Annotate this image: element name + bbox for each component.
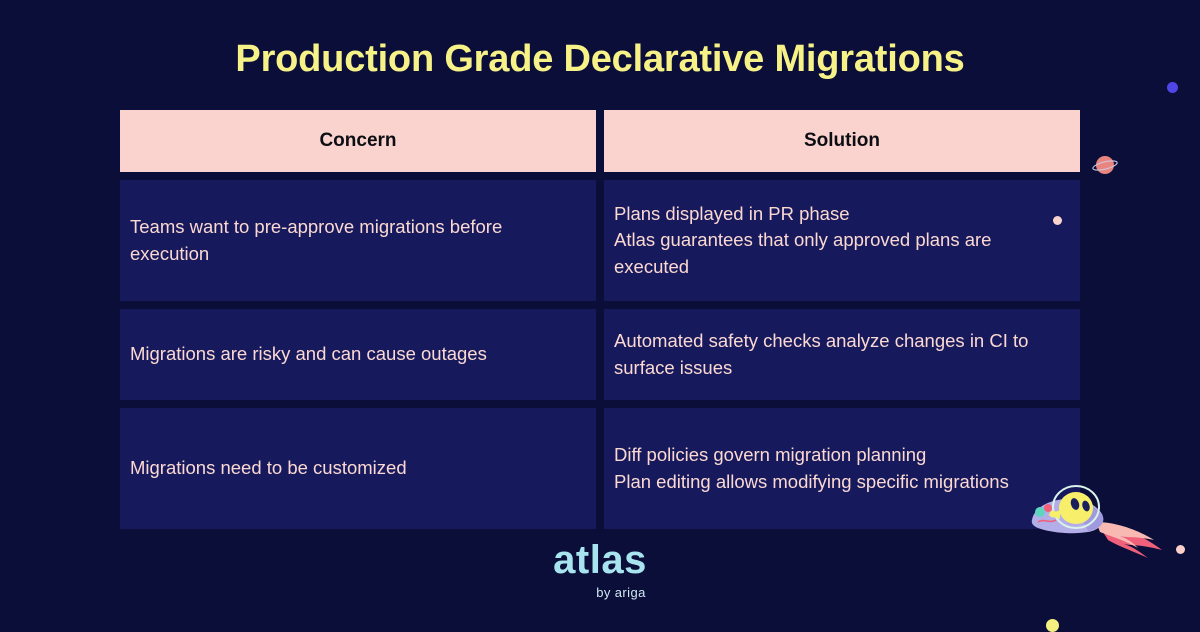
concern-cell: Migrations are risky and can cause outag… bbox=[120, 309, 596, 400]
concern-line: Teams want to pre-approve migrations bef… bbox=[130, 214, 586, 267]
solution-cell: Diff policies govern migration planning … bbox=[604, 408, 1080, 529]
concern-cell: Teams want to pre-approve migrations bef… bbox=[120, 180, 596, 301]
concern-cell: Migrations need to be customized bbox=[120, 408, 596, 529]
table-row: Migrations need to be customized Diff po… bbox=[120, 408, 1080, 529]
solution-cell: Plans displayed in PR phase Atlas guaran… bbox=[604, 180, 1080, 301]
solution-cell: Automated safety checks analyze changes … bbox=[604, 309, 1080, 400]
solution-line: Atlas guarantees that only approved plan… bbox=[614, 227, 1070, 280]
column-header-concern: Concern bbox=[120, 110, 596, 172]
table-row: Migrations are risky and can cause outag… bbox=[120, 309, 1080, 400]
solution-line: Plans displayed in PR phase bbox=[614, 201, 1070, 227]
concern-line: Migrations need to be customized bbox=[130, 455, 586, 481]
logo-wordmark: atlas bbox=[553, 540, 647, 580]
slide-canvas: Production Grade Declarative Migrations … bbox=[0, 0, 1200, 630]
logo-tagline: by ariga bbox=[596, 585, 645, 600]
comparison-table: Concern Solution Teams want to pre-appro… bbox=[120, 110, 1080, 529]
concern-line: Migrations are risky and can cause outag… bbox=[130, 341, 586, 367]
solution-line: Diff policies govern migration planning bbox=[614, 442, 1070, 468]
blue-dot-decoration bbox=[1167, 82, 1178, 93]
column-header-solution: Solution bbox=[604, 110, 1080, 172]
solution-line: Plan editing allows modifying specific m… bbox=[614, 469, 1070, 495]
page-title: Production Grade Declarative Migrations bbox=[0, 38, 1200, 81]
solution-line: Automated safety checks analyze changes … bbox=[614, 328, 1070, 381]
planet-icon bbox=[1092, 152, 1118, 178]
atlas-logo: atlas by ariga bbox=[0, 540, 1200, 600]
table-row: Teams want to pre-approve migrations bef… bbox=[120, 180, 1080, 301]
yellow-dot-decoration bbox=[1046, 619, 1059, 632]
table-header-row: Concern Solution bbox=[120, 110, 1080, 172]
